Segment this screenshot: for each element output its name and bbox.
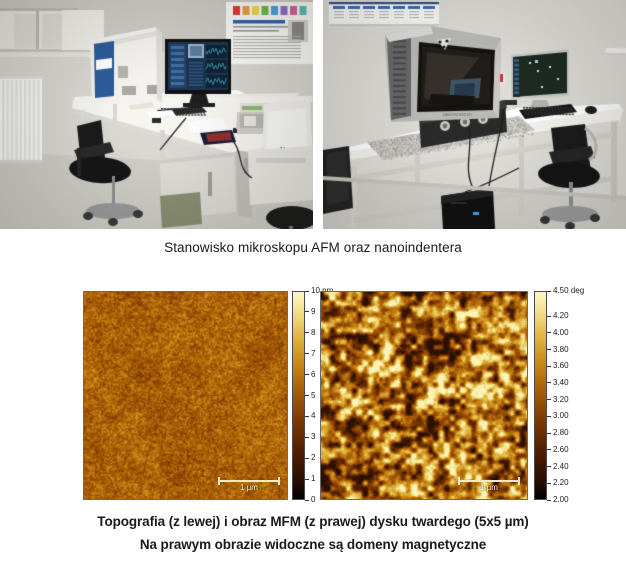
topography-colorbar-tick-dash <box>305 437 309 438</box>
topography-colorbar-tick: 9 <box>305 308 315 316</box>
mfm-colorbar-tick: 2.80 <box>547 429 569 437</box>
topography-colorbar-tick-dash <box>305 311 309 312</box>
topography-colorbar-tick-label: 6 <box>311 371 315 379</box>
afm-lab-photo <box>0 0 313 229</box>
mfm-colorbar-gradient <box>534 291 547 500</box>
mfm-colorbar-tick-dash <box>547 466 551 467</box>
mfm-colorbar-tick: 2.40 <box>547 463 569 471</box>
topography-colorbar-tick-dash <box>305 332 309 333</box>
afm-topography-canvas <box>83 291 288 500</box>
mfm-colorbar-tick-dash <box>547 483 551 484</box>
topography-colorbar-tick-label: 0 <box>311 496 315 504</box>
topography-colorbar-tick-label: 3 <box>311 433 315 441</box>
topography-colorbar-tick-label: 9 <box>311 308 315 316</box>
mfm-colorbar-tick-label: 2.00 <box>553 496 569 504</box>
mfm-colorbar-tick-label: 4.00 <box>553 329 569 337</box>
topography-colorbar-tick: 5 <box>305 392 315 400</box>
topography-colorbar-tick-dash <box>305 291 309 292</box>
mfm-colorbar-tick-label: 3.00 <box>553 412 569 420</box>
mfm-colorbar-tick-label: 2.40 <box>553 463 569 471</box>
mfm-colorbar-tick-dash <box>547 366 551 367</box>
mfm-colorbar-tick: 4.00 <box>547 329 569 337</box>
topography-colorbar-tick-dash <box>305 458 309 459</box>
mfm-colorbar-tick: 4.50 deg <box>547 287 584 295</box>
topography-colorbar-tick: 0 <box>305 496 315 504</box>
mfm-colorbar-tick-dash <box>547 399 551 400</box>
mfm-colorbar-tick-dash <box>547 332 551 333</box>
mfm-colorbar-tick-dash <box>547 500 551 501</box>
mfm-colorbar-tick-dash <box>547 449 551 450</box>
topography-colorbar-tick-label: 2 <box>311 454 315 462</box>
afm-mfm-image: 1 µm <box>320 291 528 500</box>
mfm-colorbar-tick-label: 4.50 deg <box>553 287 584 295</box>
mfm-colorbar-tick-dash <box>547 433 551 434</box>
mfm-colorbar-tick: 3.60 <box>547 362 569 370</box>
topography-colorbar-tick: 7 <box>305 350 315 358</box>
topography-colorbar-tick: 6 <box>305 371 315 379</box>
topography-colorbar-tick-dash <box>305 395 309 396</box>
mfm-colorbar-tick: 3.40 <box>547 379 569 387</box>
topography-colorbar-tick-label: 8 <box>311 329 315 337</box>
mfm-colorbar-tick-label: 2.60 <box>553 446 569 454</box>
topography-colorbar-tick-label: 1 <box>311 475 315 483</box>
afm-caption-line-2: Na prawym obrazie widoczne są domeny mag… <box>0 537 626 552</box>
mfm-colorbar-tick-dash <box>547 349 551 350</box>
topography-colorbar-gradient <box>292 291 305 500</box>
topography-colorbar-tick: 3 <box>305 433 315 441</box>
mfm-colorbar-tick-label: 3.40 <box>553 379 569 387</box>
mfm-colorbar-tick-dash <box>547 382 551 383</box>
topography-colorbar-tick-label: 7 <box>311 350 315 358</box>
afm-mfm-canvas <box>320 291 528 500</box>
afm-caption-line-1: Topografia (z lewej) i obraz MFM (z praw… <box>0 514 626 529</box>
topography-colorbar-tick-dash <box>305 374 309 375</box>
mfm-colorbar-tick: 2.20 <box>547 479 569 487</box>
mfm-colorbar-tick-dash <box>547 416 551 417</box>
mfm-colorbar-tick-label: 3.80 <box>553 346 569 354</box>
topography-colorbar-tick: 1 <box>305 475 315 483</box>
mfm-colorbar: 4.50 deg4.204.003.803.603.403.203.002.80… <box>534 291 591 500</box>
mfm-colorbar-tick: 3.80 <box>547 346 569 354</box>
afm-topography-image: 1 µm <box>83 291 288 500</box>
mfm-colorbar-tick-label: 3.60 <box>553 362 569 370</box>
topography-colorbar-tick-label: 5 <box>311 392 315 400</box>
mfm-colorbar-ticks: 4.50 deg4.204.003.803.603.403.203.002.80… <box>547 291 591 500</box>
topography-colorbar-tick-dash <box>305 416 309 417</box>
mfm-colorbar-tick-dash <box>547 291 551 292</box>
topography-colorbar-tick: 8 <box>305 329 315 337</box>
mfm-colorbar-tick-label: 2.20 <box>553 479 569 487</box>
mfm-colorbar-tick-label: 2.80 <box>553 429 569 437</box>
mfm-colorbar-tick: 2.60 <box>547 446 569 454</box>
nanoindenter-lab-photo-canvas <box>323 0 626 229</box>
nanoindenter-lab-photo <box>323 0 626 229</box>
mfm-colorbar-tick: 3.00 <box>547 412 569 420</box>
topography-colorbar-tick-dash <box>305 353 309 354</box>
photos-caption: Stanowisko mikroskopu AFM oraz nanoinden… <box>0 240 626 255</box>
mfm-colorbar-tick-label: 4.20 <box>553 312 569 320</box>
mfm-colorbar-tick-dash <box>547 316 551 317</box>
topography-colorbar-tick-label: 4 <box>311 412 315 420</box>
topography-colorbar-tick: 2 <box>305 454 315 462</box>
topography-colorbar-tick-dash <box>305 479 309 480</box>
topography-colorbar-tick-dash <box>305 500 309 501</box>
mfm-colorbar-tick: 2.00 <box>547 496 569 504</box>
mfm-colorbar-tick: 4.20 <box>547 312 569 320</box>
mfm-colorbar-tick-label: 3.20 <box>553 396 569 404</box>
topography-colorbar-tick: 4 <box>305 412 315 420</box>
afm-lab-photo-canvas <box>0 0 313 229</box>
mfm-colorbar-tick: 3.20 <box>547 396 569 404</box>
